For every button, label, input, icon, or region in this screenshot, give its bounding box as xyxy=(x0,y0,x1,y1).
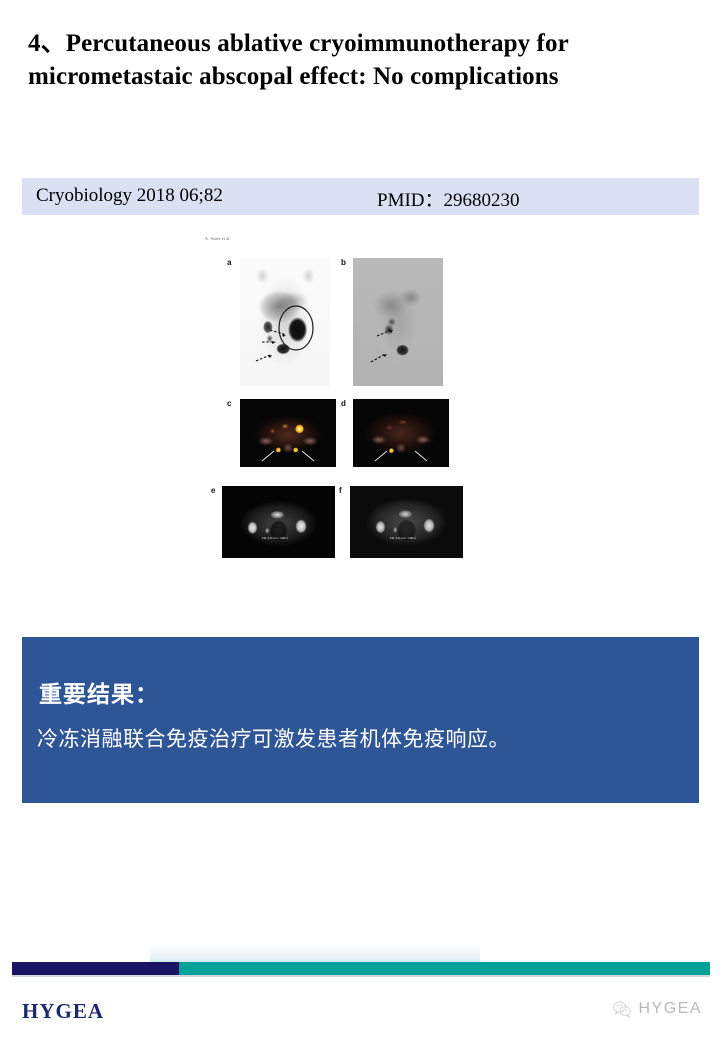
figure-panel-e: FR: 4.0 mm / 200.0 xyxy=(222,486,335,558)
footer-bar-underline xyxy=(12,975,710,977)
page-title: 4、Percutaneous ablative cryoimmunotherap… xyxy=(28,27,683,93)
figure-panel-c xyxy=(240,399,336,467)
panel-c-markers xyxy=(240,399,336,467)
figure-block: A. Soule et al. a b c xyxy=(205,236,480,581)
footer-brand-wordmark: HYGEA xyxy=(22,999,104,1024)
panel-f-annotation: FR: 4.0 mm / 200.0 xyxy=(390,536,416,540)
ct-scan-image-e xyxy=(222,486,335,558)
footer-glow-band xyxy=(150,945,480,963)
panel-e-annotation: FR: 4.0 mm / 200.0 xyxy=(262,536,288,540)
key-result-box: 重要结果： 冷冻消融联合免疫治疗可激发患者机体免疫响应。 xyxy=(22,637,699,803)
key-result-heading: 重要结果： xyxy=(39,675,159,709)
figure-panel-label-f: f xyxy=(339,486,342,495)
figure-panel-b xyxy=(353,258,443,386)
figure-panel-label-c: c xyxy=(227,399,231,408)
footer-social-label: HYGEA xyxy=(638,1000,702,1018)
footer-bar-navy xyxy=(12,962,179,975)
figure-panel-label-b: b xyxy=(341,258,346,267)
figure-panel-label-d: d xyxy=(341,399,346,408)
figure-panel-f: FR: 4.0 mm / 200.0 xyxy=(350,486,463,558)
wechat-icon xyxy=(612,1000,632,1018)
citation-pmid: PMID：29680230 xyxy=(377,185,520,212)
ct-scan-image-f xyxy=(350,486,463,558)
citation-journal: Cryobiology 2018 06;82 xyxy=(36,185,223,207)
figure-panel-label-e: e xyxy=(211,486,215,495)
footer-bar-teal xyxy=(179,962,710,975)
figure-running-header: A. Soule et al. xyxy=(205,236,231,241)
figure-panel-d xyxy=(353,399,449,467)
figure-panel-a xyxy=(240,258,330,386)
panel-b-markers xyxy=(353,258,443,386)
panel-d-markers xyxy=(353,399,449,467)
citation-bar: Cryobiology 2018 06;82 PMID：29680230 xyxy=(22,178,699,215)
key-result-body: 冷冻消融联合免疫治疗可激发患者机体免疫响应。 xyxy=(37,725,687,753)
figure-panel-label-a: a xyxy=(227,258,231,267)
panel-a-markers xyxy=(240,258,330,386)
footer-social-block: HYGEA xyxy=(612,1000,702,1018)
